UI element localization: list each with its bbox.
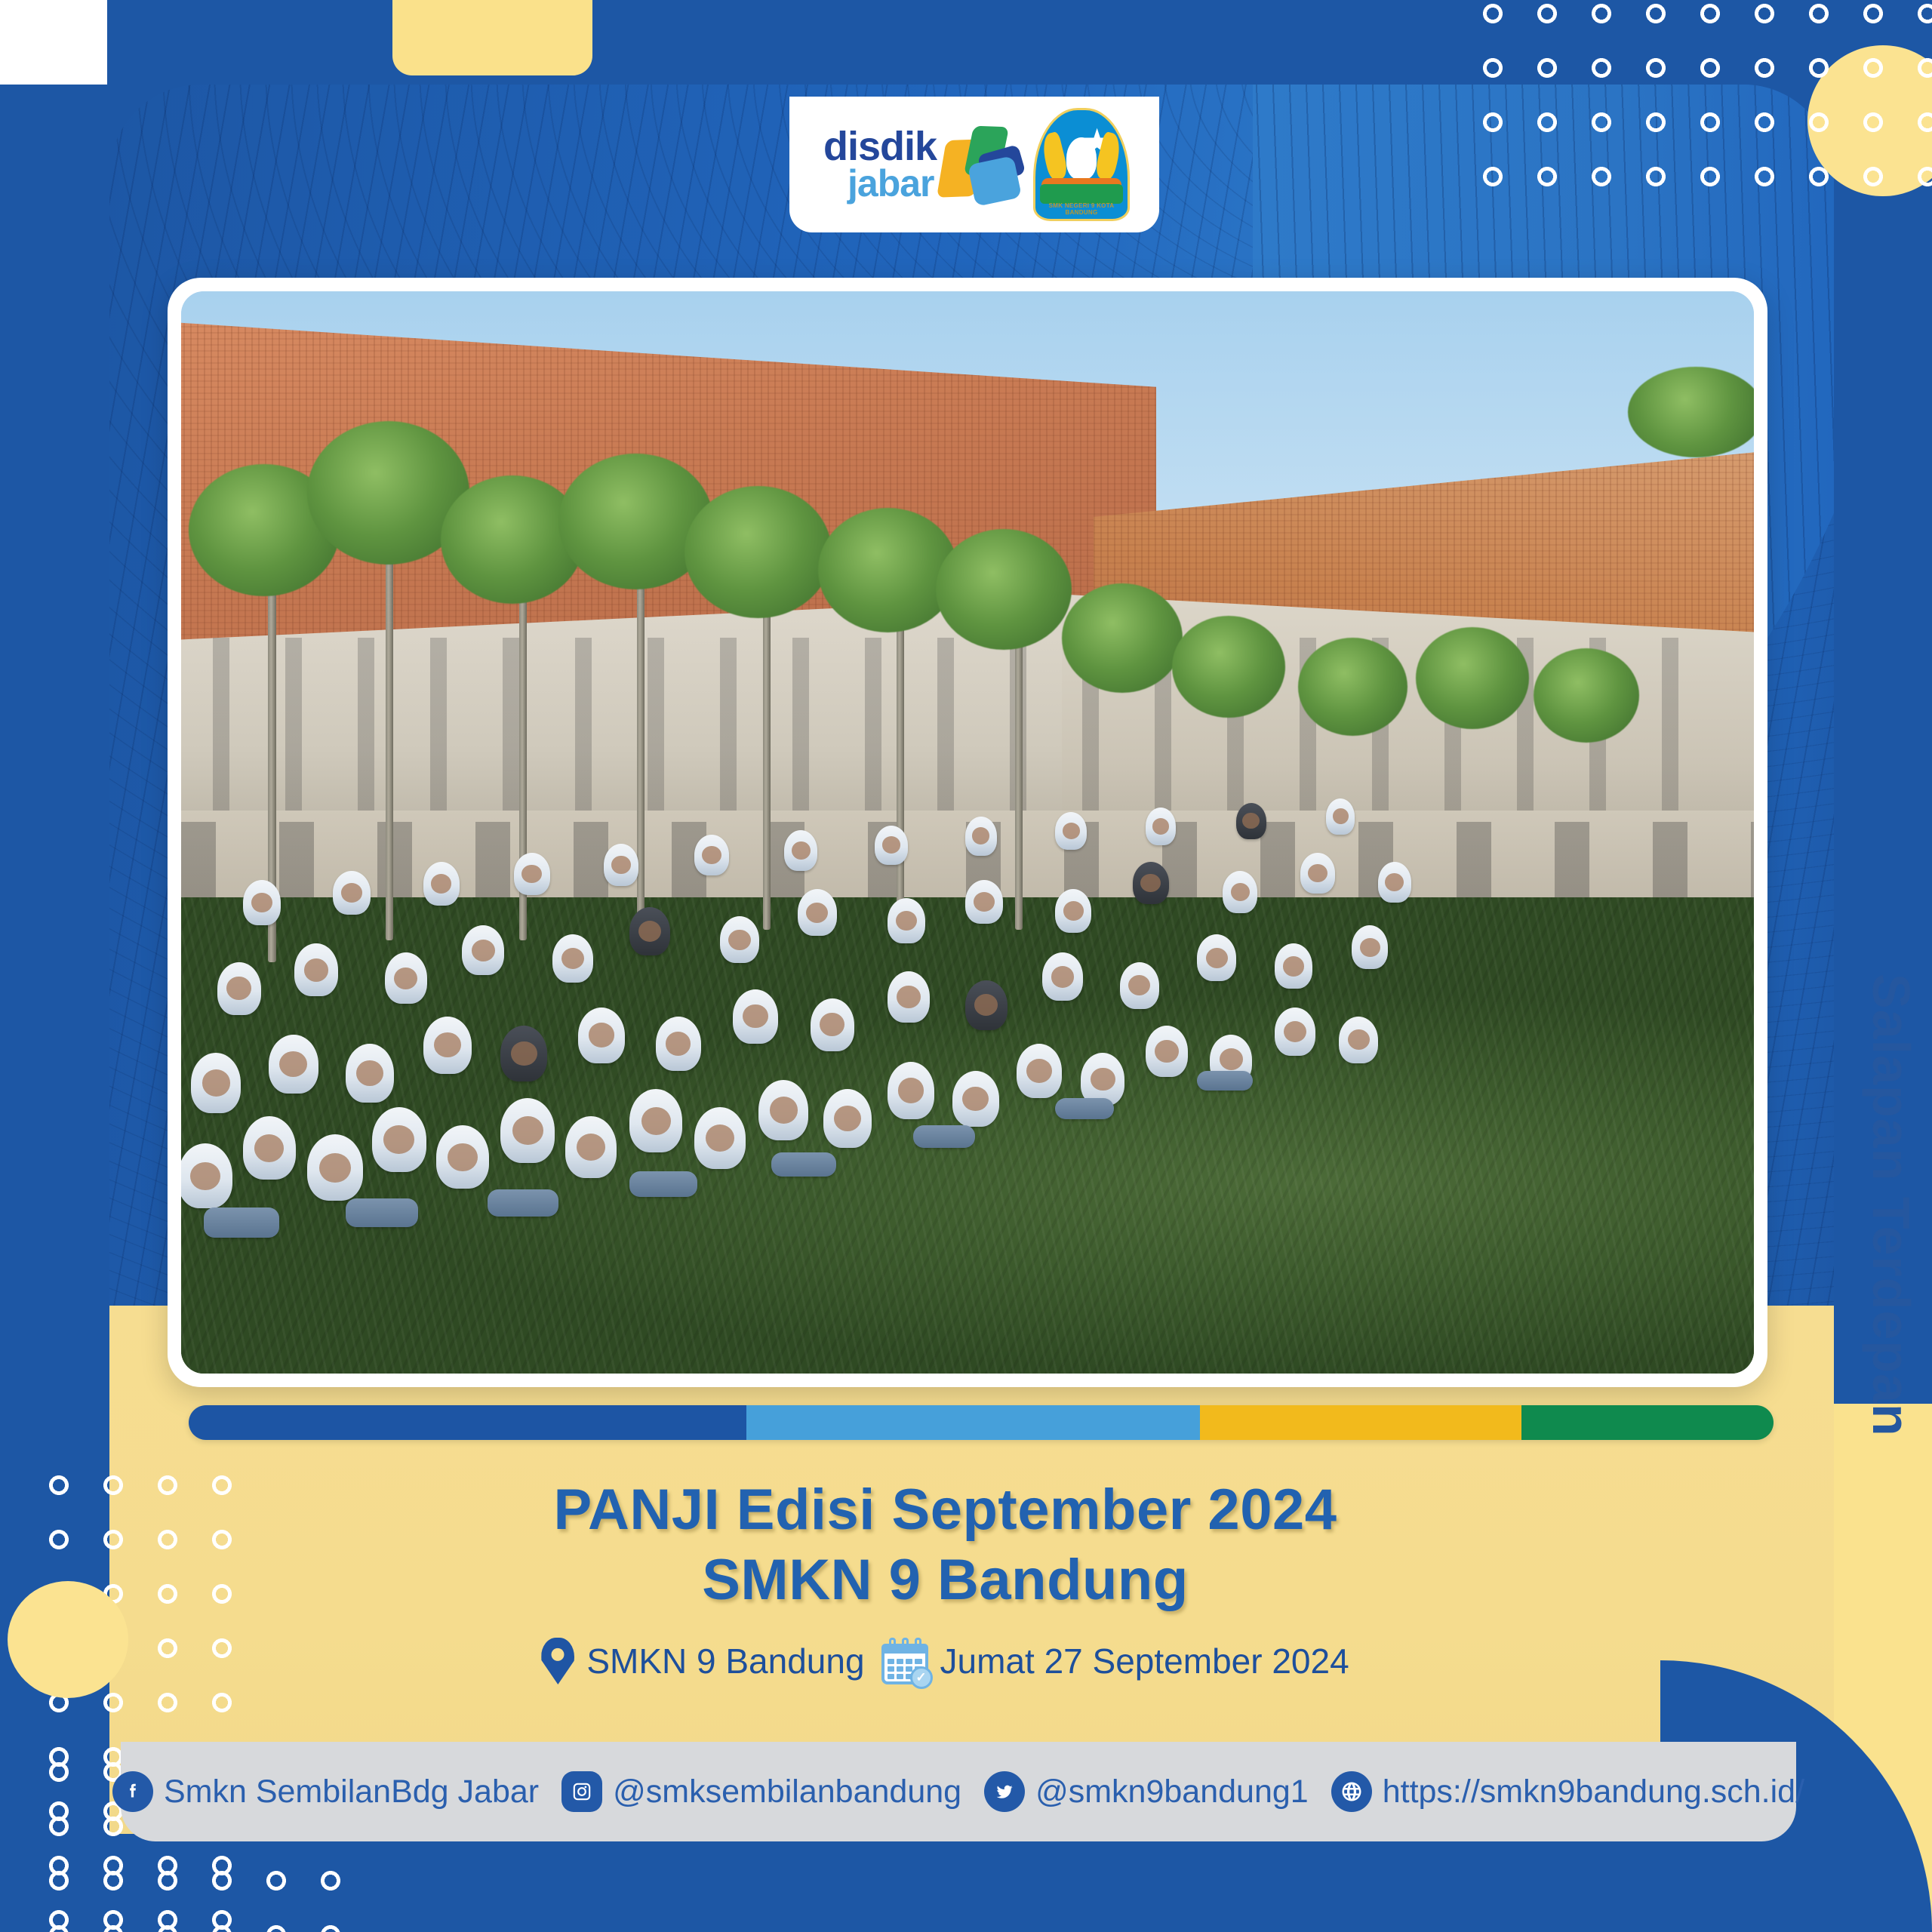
color-segment-light-blue xyxy=(746,1405,1200,1440)
emblem-caption: SMK NEGERI 9 KOTA BANDUNG xyxy=(1035,202,1128,216)
accent-color-bar xyxy=(189,1405,1774,1440)
social-website[interactable]: https://smkn9bandung.sch.id/ xyxy=(1331,1771,1804,1812)
date-text: Jumat 27 September 2024 xyxy=(940,1641,1349,1681)
twitter-handle[interactable]: @smkn9bandung1 xyxy=(1035,1774,1309,1810)
website-url[interactable]: https://smkn9bandung.sch.id/ xyxy=(1383,1774,1804,1810)
facebook-handle[interactable]: Smkn SembilanBdg Jabar xyxy=(164,1774,539,1810)
color-segment-green xyxy=(1521,1405,1774,1440)
page-title-line-2: SMKN 9 Bandung xyxy=(109,1546,1781,1616)
location-text: SMKN 9 Bandung xyxy=(586,1641,864,1681)
disdik-line1: disdik xyxy=(823,129,937,165)
top-left-white-notch xyxy=(0,0,107,85)
event-meta-row: SMKN 9 Bandung ✓ Jumat 27 September 2024 xyxy=(109,1638,1781,1684)
color-segment-dark-blue xyxy=(189,1405,746,1440)
globe-icon[interactable] xyxy=(1331,1771,1372,1812)
instagram-handle[interactable]: @smksembilanbandung xyxy=(613,1774,961,1810)
photo-frame xyxy=(168,278,1767,1387)
meta-date: ✓ Jumat 27 September 2024 xyxy=(881,1638,1349,1684)
calendar-icon: ✓ xyxy=(881,1638,928,1684)
location-pin-icon xyxy=(541,1638,574,1684)
vertical-tagline: Salapan Terdepan xyxy=(1861,974,1921,1841)
top-right-dot-pattern xyxy=(1479,0,1932,219)
meta-location: SMKN 9 Bandung xyxy=(541,1638,864,1684)
twitter-icon[interactable] xyxy=(984,1771,1025,1812)
disdik-jabar-logo: disdik jabar xyxy=(819,115,1008,214)
facebook-icon[interactable] xyxy=(112,1771,153,1812)
social-footer-bar: Smkn SembilanBdg Jabar @smksembilanbandu… xyxy=(121,1742,1796,1841)
disdik-line2: jabar xyxy=(848,167,937,200)
page-title-line-1: PANJI Edisi September 2024 xyxy=(109,1475,1781,1546)
top-yellow-tab xyxy=(392,0,592,75)
disdik-jabar-mark-icon xyxy=(938,124,1008,205)
title-block: PANJI Edisi September 2024 SMKN 9 Bandun… xyxy=(109,1475,1781,1615)
school-emblem-icon: ★ SMK NEGERI 9 KOTA BANDUNG xyxy=(1033,108,1130,221)
color-segment-yellow xyxy=(1200,1405,1521,1440)
social-instagram[interactable]: @smksembilanbandung xyxy=(561,1771,961,1812)
poster-canvas: disdik jabar ★ SMK NEGERI 9 KOTA BANDUNG xyxy=(0,0,1932,1932)
social-facebook[interactable]: Smkn SembilanBdg Jabar xyxy=(112,1771,539,1812)
instagram-icon[interactable] xyxy=(561,1771,602,1812)
event-photo xyxy=(181,291,1754,1374)
logo-card: disdik jabar ★ SMK NEGERI 9 KOTA BANDUNG xyxy=(789,97,1159,232)
disdik-wordmark: disdik jabar xyxy=(819,129,937,200)
student-crowd xyxy=(181,789,1455,1244)
social-twitter[interactable]: @smkn9bandung1 xyxy=(984,1771,1309,1812)
